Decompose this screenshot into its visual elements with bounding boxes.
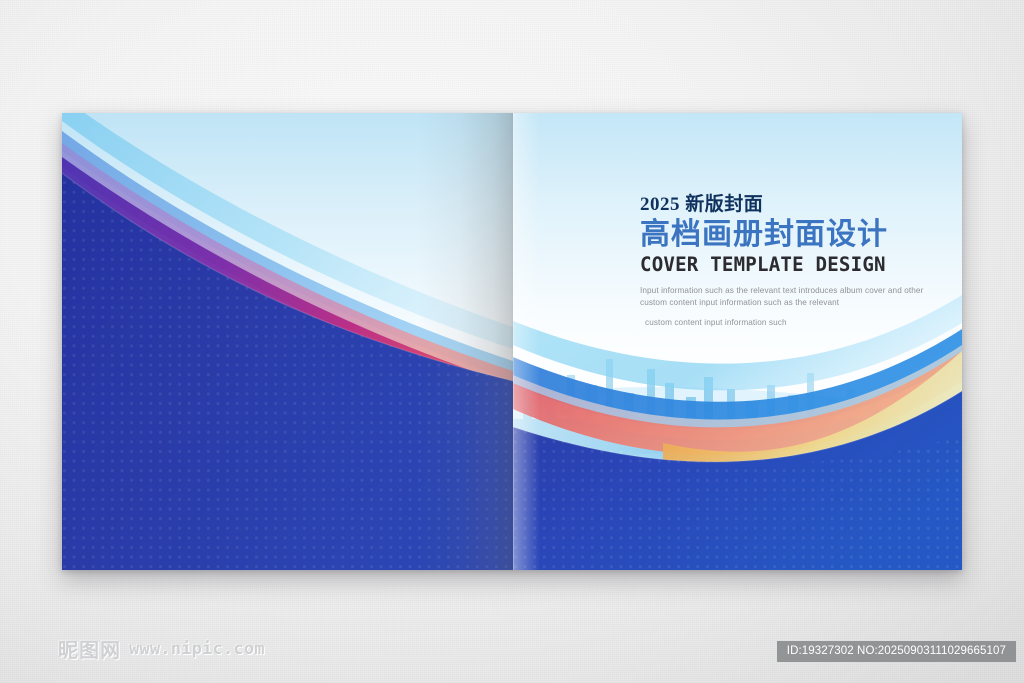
site-watermark: 昵图网 www.nipic.com [58, 634, 265, 663]
cover-body-paragraph-2: custom content input information such [640, 317, 952, 329]
cover-body-paragraph-1: Input information such as the relevant t… [640, 285, 952, 309]
asset-id-badge: ID:19327302 NO:20250903111029665107 [777, 641, 1016, 662]
watermark-site-name-cn: 昵图网 [58, 634, 121, 663]
cover-eyebrow: 2025 新版封面 [640, 195, 952, 214]
brochure-spread: 2025 新版封面 高档画册封面设计 COVER TEMPLATE DESIGN… [62, 113, 962, 570]
screenshot-canvas: 2025 新版封面 高档画册封面设计 COVER TEMPLATE DESIGN… [0, 0, 1024, 683]
brochure-back-cover-page [62, 113, 513, 570]
brochure-front-cover-page: 2025 新版封面 高档画册封面设计 COVER TEMPLATE DESIGN… [513, 113, 962, 570]
cover-subheadline: COVER TEMPLATE DESIGN [640, 255, 946, 275]
cover-copy-block: 2025 新版封面 高档画册封面设计 COVER TEMPLATE DESIGN… [640, 195, 952, 329]
watermark-site-url: www.nipic.com [129, 639, 265, 659]
cover-headline: 高档画册封面设计 [640, 219, 952, 251]
artwork-left [62, 113, 513, 570]
artwork-right [513, 113, 962, 570]
